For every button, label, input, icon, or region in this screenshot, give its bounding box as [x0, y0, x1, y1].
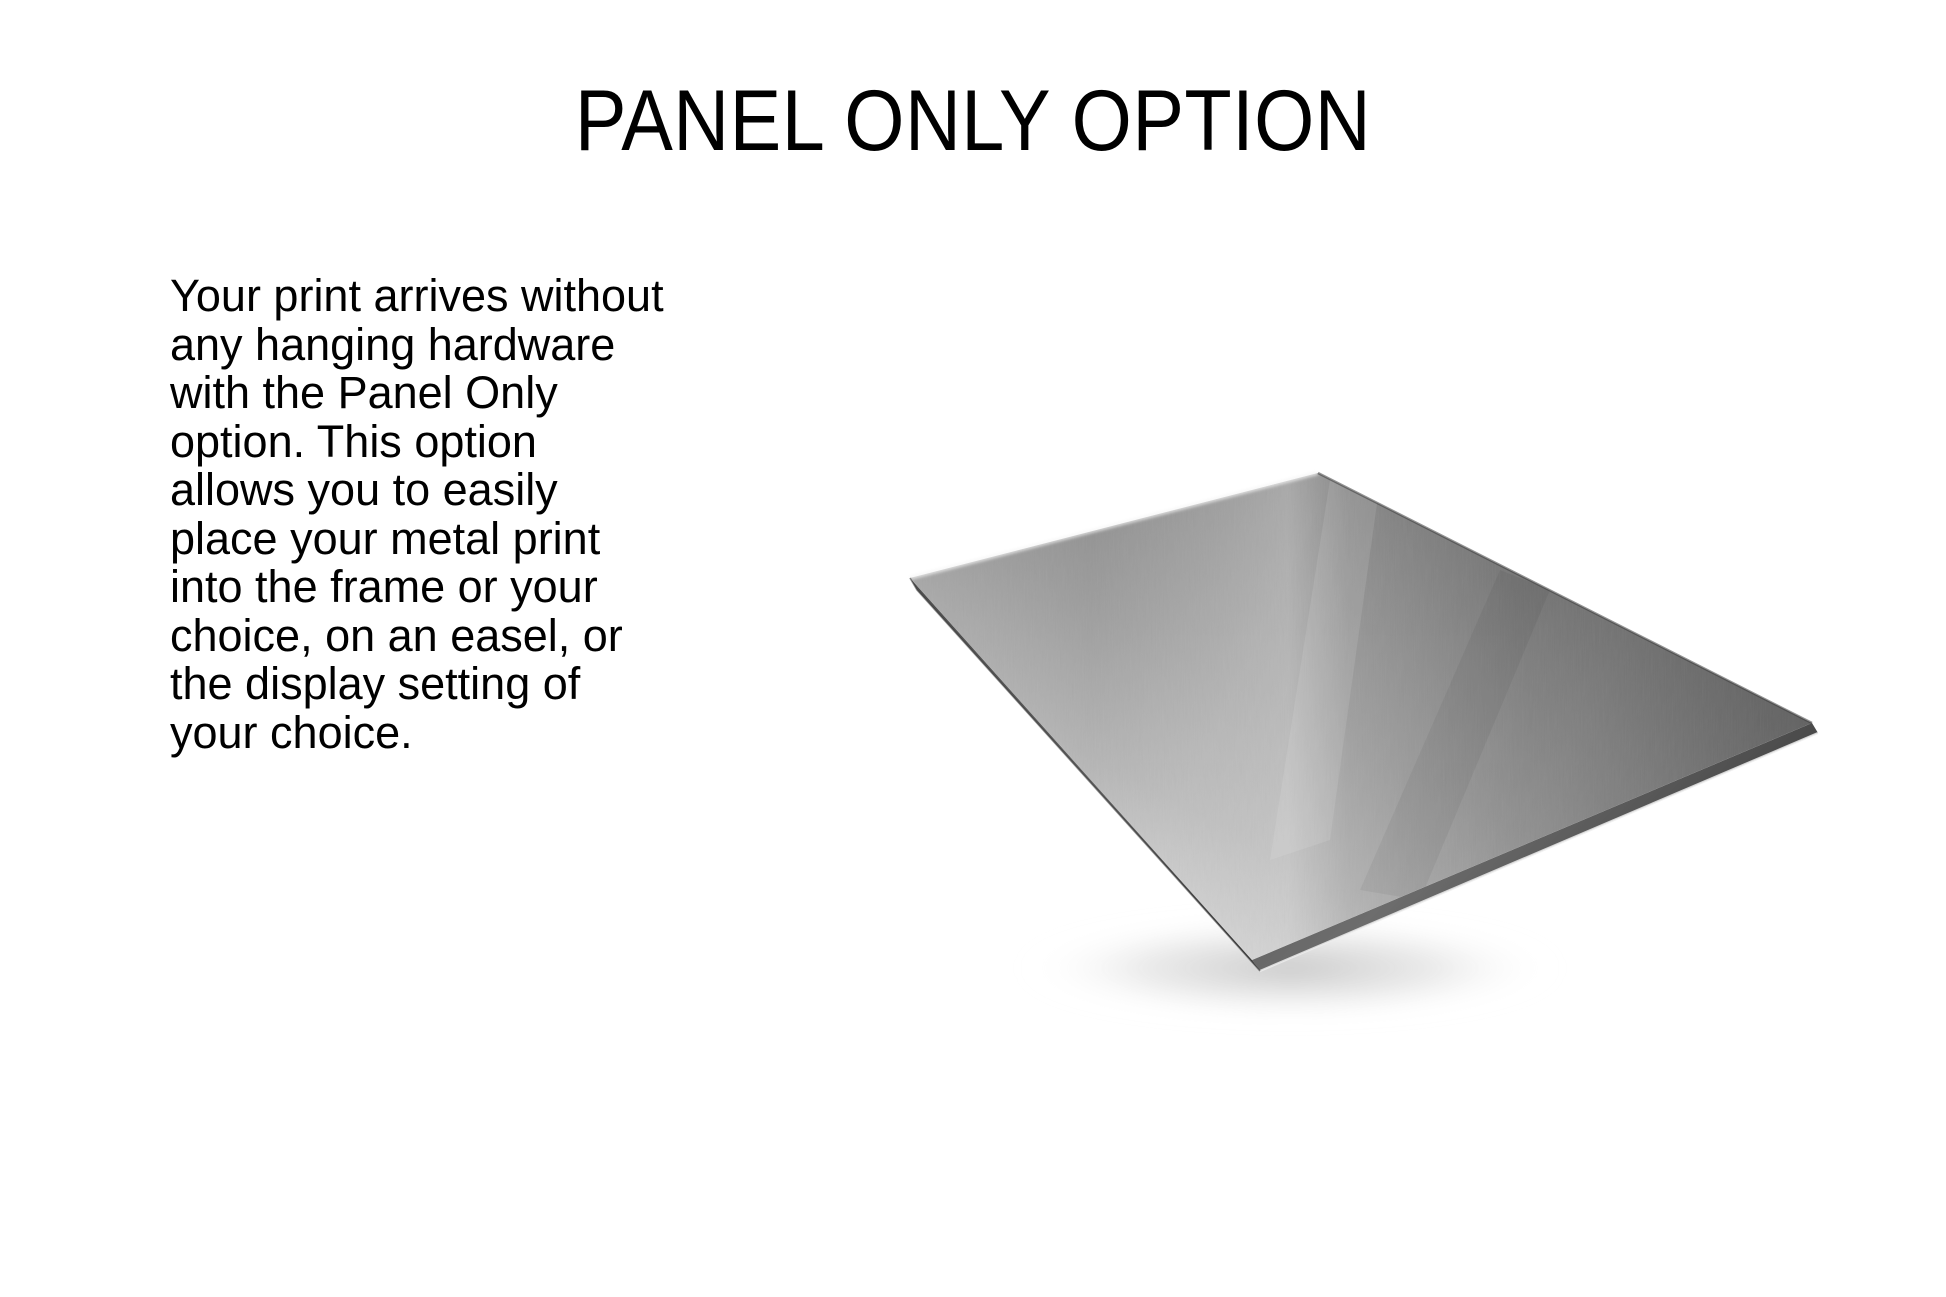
body-line: Your print arrives without: [170, 272, 640, 321]
metal-panel-photo: [860, 420, 1870, 1040]
body-line: option. This option: [170, 418, 640, 467]
body-line: with the Panel Only: [170, 369, 640, 418]
body-line: the display setting of: [170, 660, 640, 709]
body-line: your choice.: [170, 709, 640, 758]
body-line: into the frame or your: [170, 563, 640, 612]
body-text-block: Your print arrives without any hanging h…: [170, 272, 640, 757]
body-line: choice, on an easel, or: [170, 612, 640, 661]
slide-canvas: PANEL ONLY OPTION Your print arrives wit…: [0, 0, 1946, 1297]
metal-panel-illustration: [860, 420, 1870, 1040]
body-line: any hanging hardware: [170, 321, 640, 370]
body-line: allows you to easily: [170, 466, 640, 515]
page-title: PANEL ONLY OPTION: [97, 78, 1848, 166]
body-line: place your metal print: [170, 515, 640, 564]
